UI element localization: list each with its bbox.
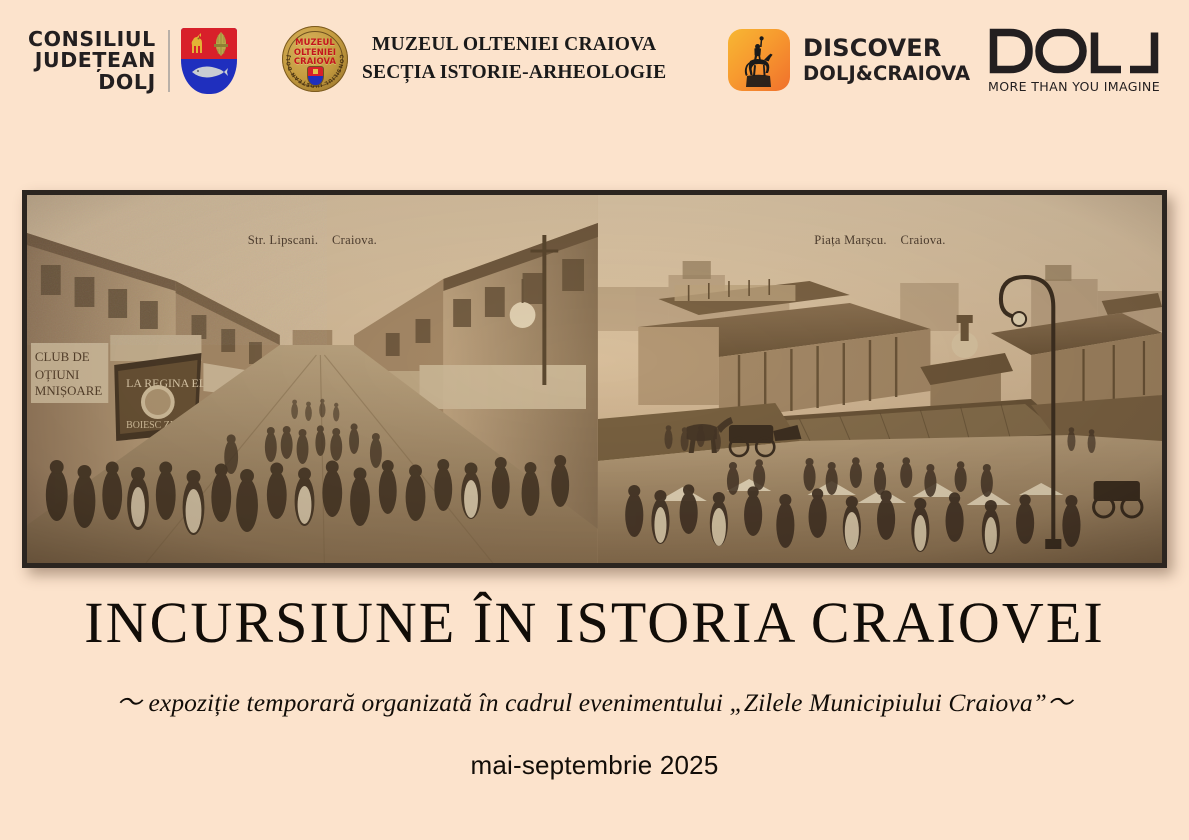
sponsor-logo-bar: CONSILIUL JUDEȚEAN DOLJ xyxy=(0,0,1189,128)
discover-line-2: DOLJ&CRAIOVA xyxy=(803,62,970,85)
cjd-line-3: DOLJ xyxy=(28,72,156,94)
poster-subtitle: 〜 expoziție temporară organizată în cadr… xyxy=(0,688,1189,718)
svg-text:OȚIUNI: OȚIUNI xyxy=(35,367,79,382)
dolj-coat-of-arms-icon xyxy=(181,28,237,94)
page-title: INCURSIUNE ÎN ISTORIA CRAIOVEI xyxy=(0,592,1189,654)
logo-muzeul-olteniei: CONSILIUL JUDEȚEAN DOLJ MUZEUL OLTENIEI … xyxy=(282,26,666,92)
cjd-line-2: JUDEȚEAN xyxy=(28,50,156,72)
postcard-left-caption: Str. Lipscani. Craiova. xyxy=(27,233,598,248)
cjd-wordmark: CONSILIUL JUDEȚEAN DOLJ xyxy=(28,29,156,94)
svg-text:MNIȘOARE: MNIȘOARE xyxy=(35,383,102,398)
historic-postcards-panel: CLUB DE OȚIUNI MNIȘOARE LA REGINA ELISAB… xyxy=(22,190,1167,568)
postcard-lipscani-street: CLUB DE OȚIUNI MNIȘOARE LA REGINA ELISAB… xyxy=(27,195,598,563)
seal-shield-icon xyxy=(308,67,323,85)
discover-wordmark: DISCOVER DOLJ&CRAIOVA xyxy=(803,35,970,85)
svg-text:CLUB DE: CLUB DE xyxy=(35,349,90,364)
museum-wordmark: MUZEUL OLTENIEI CRAIOVA SECȚIA ISTORIE-A… xyxy=(362,31,666,87)
logo-divider xyxy=(168,30,170,92)
cjd-line-1: CONSILIUL xyxy=(28,29,156,51)
discover-line-1: DISCOVER xyxy=(803,35,970,62)
museum-line-2: SECȚIA ISTORIE-ARHEOLOGIE xyxy=(362,59,666,87)
equestrian-statue-icon xyxy=(728,29,790,91)
logo-dolj-brand: MORE THAN YOU IMAGINE xyxy=(988,28,1160,94)
exhibition-poster: CONSILIUL JUDEȚEAN DOLJ xyxy=(0,0,1189,840)
logo-consiliul-judetean-dolj: CONSILIUL JUDEȚEAN DOLJ xyxy=(28,28,237,94)
postcard-marscu-square: Piața Marșcu. Craiova. xyxy=(598,195,1162,563)
postcard-right-caption: Piața Marșcu. Craiova. xyxy=(598,233,1162,248)
seal-inner-text: MUZEUL OLTENIEI CRAIOVA xyxy=(293,38,337,67)
exhibition-dates: mai-septembrie 2025 xyxy=(0,750,1189,781)
dolj-tagline: MORE THAN YOU IMAGINE xyxy=(988,79,1160,94)
seal-inner-line-3: CRAIOVA xyxy=(293,57,337,67)
museum-seal-icon: CONSILIUL JUDEȚEAN DOLJ MUZEUL OLTENIEI … xyxy=(282,26,348,92)
museum-line-1: MUZEUL OLTENIEI CRAIOVA xyxy=(362,31,666,59)
dolj-wordmark-icon xyxy=(988,28,1160,74)
logo-discover-dolj-craiova: DISCOVER DOLJ&CRAIOVA xyxy=(728,29,970,91)
